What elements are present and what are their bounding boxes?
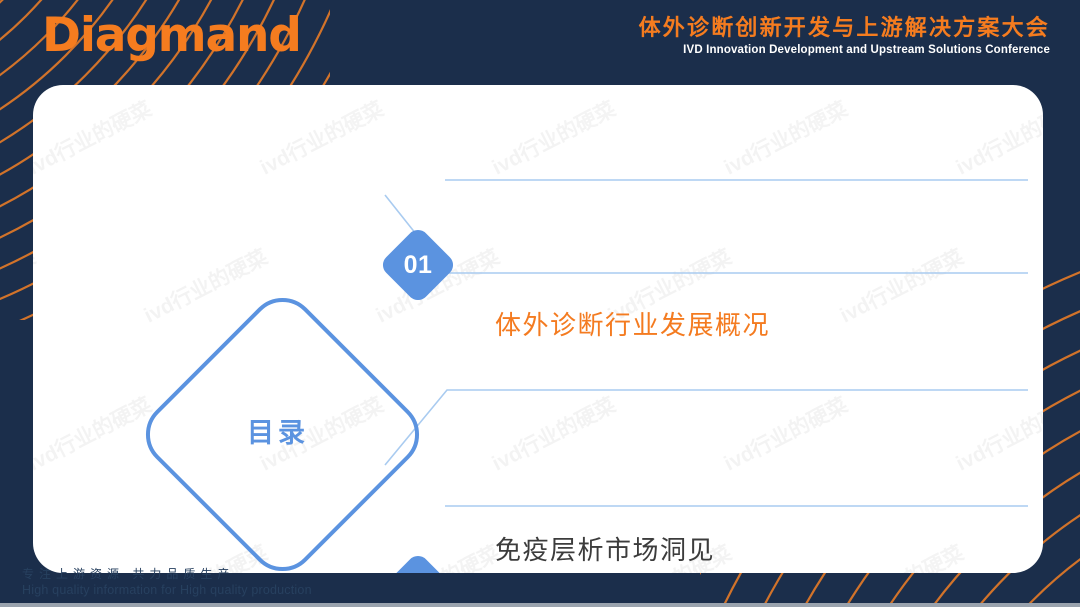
footer-tagline-en: High quality information for High qualit… — [22, 582, 312, 599]
toc-badge-02-number: 02 — [378, 551, 458, 573]
toc-badge-01-number: 01 — [378, 225, 458, 305]
watermark-text: ivd行业的硬菜 — [33, 241, 40, 329]
watermark-text: ivd行业的硬菜 — [33, 93, 156, 181]
watermark-text: ivd行业的硬菜 — [718, 389, 852, 477]
content-card: ivd行业的硬菜ivd行业的硬菜ivd行业的硬菜ivd行业的硬菜ivd行业的硬菜… — [33, 85, 1043, 573]
watermark-text: ivd行业的硬菜 — [950, 389, 1043, 477]
toc-center-label: 目录 — [133, 285, 423, 573]
brand-logo: Diagmand — [42, 12, 301, 59]
toc-item-title-01[interactable]: 体外诊断行业发展概况 — [495, 305, 770, 342]
watermark-text: ivd行业的硬菜 — [486, 93, 620, 181]
bottom-rule — [0, 603, 1080, 607]
footer-tagline: 专注上游资源 共力品质生产 High quality information f… — [22, 566, 312, 599]
watermark-text: ivd行业的硬菜 — [834, 241, 968, 329]
slide-header: Diagmand 体外诊断创新开发与上游解决方案大会 IVD Innovatio… — [0, 0, 1080, 85]
footer-tagline-cn: 专注上游资源 共力品质生产 — [22, 566, 312, 582]
conference-title-block: 体外诊断创新开发与上游解决方案大会 IVD Innovation Develop… — [639, 15, 1050, 58]
toc-item-title-02[interactable]: 免疫层析市场洞见 — [495, 530, 715, 567]
watermark-text: ivd行业的硬菜 — [950, 93, 1043, 181]
conference-title-en: IVD Innovation Development and Upstream … — [639, 43, 1050, 58]
watermark-text: ivd行业的硬菜 — [254, 93, 388, 181]
watermark-text: ivd行业的硬菜 — [834, 537, 968, 573]
watermark-text: ivd行业的硬菜 — [486, 389, 620, 477]
watermark-text: ivd行业的硬菜 — [718, 93, 852, 181]
toc-center-diamond: 目录 — [133, 285, 423, 573]
slide-canvas: Diagmand 体外诊断创新开发与上游解决方案大会 IVD Innovatio… — [0, 0, 1080, 607]
conference-title-cn: 体外诊断创新开发与上游解决方案大会 — [639, 15, 1050, 41]
